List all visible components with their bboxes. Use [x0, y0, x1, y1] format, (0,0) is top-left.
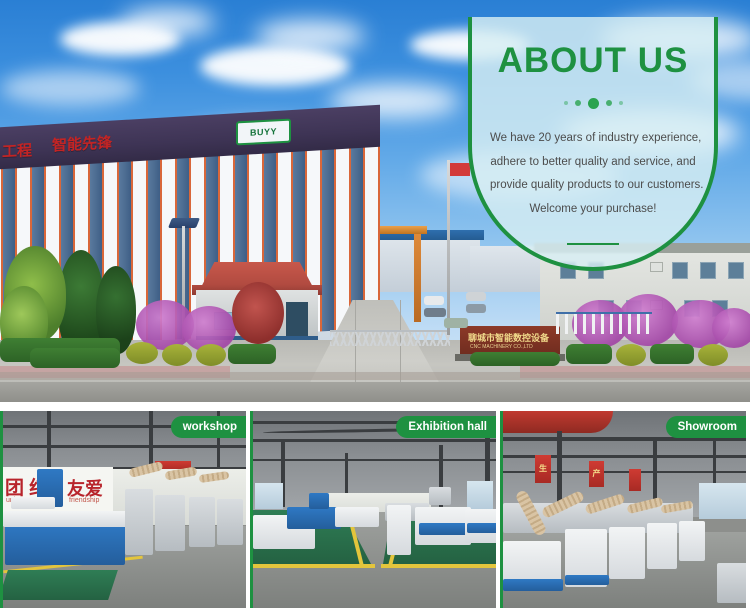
roof-truss: [253, 459, 496, 461]
machine: [419, 523, 467, 535]
roof-truss: [3, 445, 246, 448]
hero-image: 工程 智能先锋 BUYY 聊城市智能数控设备 CNC MACHINERY CO.…: [0, 0, 750, 402]
flag: [450, 163, 470, 176]
cnc-machine: [5, 523, 125, 565]
thumbnail-workshop[interactable]: 团 结 友爱 unit friendship workshop: [0, 411, 246, 608]
thumbnail-badge-showroom: Showroom: [666, 416, 746, 438]
parked-car: [466, 292, 486, 301]
yellow-shrub: [162, 344, 192, 366]
divider-dot-3: [588, 98, 599, 109]
hedge: [566, 344, 612, 364]
yellow-shrub: [616, 344, 646, 366]
machine-cabinet: [679, 521, 705, 561]
flag-pole: [447, 160, 450, 335]
thumbnail-badge-exhibition-hall: Exhibition hall: [396, 416, 496, 438]
about-underline: [567, 243, 619, 245]
parked-car: [466, 304, 486, 313]
portal-post: [414, 230, 421, 322]
company-logo-plate: BUYY: [236, 119, 291, 146]
curb: [0, 372, 750, 380]
control-cabinet: [125, 489, 153, 555]
red-hanging-banner: [629, 469, 641, 491]
about-us-paragraph: We have 20 years of industry experience,…: [490, 127, 696, 221]
machine-monitor: [429, 487, 451, 505]
side-window: [255, 483, 283, 509]
cloud: [255, 20, 365, 52]
floor-line: [381, 564, 496, 568]
building-sign-left: 工程: [2, 139, 32, 162]
divider-dot-4: [606, 100, 612, 106]
thumbnail-badge-workshop: workshop: [171, 416, 246, 438]
floor-line: [253, 564, 375, 568]
road: [0, 382, 750, 402]
cloud: [120, 8, 215, 36]
hedge: [30, 348, 120, 368]
company-logo-text: BUYY: [250, 126, 277, 137]
yellow-shrub: [126, 342, 158, 364]
hedge: [228, 344, 276, 364]
parked-car: [424, 308, 446, 317]
control-cabinet: [217, 499, 243, 545]
about-us-card: ABOUT US We have 20 years of industry ex…: [468, 17, 718, 271]
red-hanging-banner: 产: [589, 461, 604, 487]
machine: [287, 507, 341, 529]
retractable-gate: [330, 330, 450, 346]
about-us-heading: ABOUT US: [490, 43, 696, 78]
cnc-machine-arm: [11, 497, 55, 509]
control-cabinet: [155, 495, 185, 551]
red-maple-tree: [232, 282, 284, 344]
parked-car: [424, 296, 444, 305]
aisle-machine: [717, 563, 746, 603]
yellow-shrub: [698, 344, 728, 366]
about-line-3: provide quality products to our customer…: [490, 174, 696, 198]
green-floor-strip: [0, 570, 118, 600]
control-cabinet: [387, 505, 411, 555]
banner-sub-text: friendship: [69, 497, 99, 504]
white-rail-fence: [556, 312, 652, 334]
roof-truss: [253, 439, 496, 442]
stone-sign-line2: CNC MACHINERY CO.,LTD: [470, 344, 533, 350]
machine: [309, 493, 329, 509]
machine-base: [503, 579, 563, 591]
dot-divider: [490, 97, 696, 109]
control-cabinet: [189, 497, 215, 547]
stone-sign-line1: 聊城市智能数控设备: [468, 331, 549, 344]
side-window: [699, 483, 746, 519]
machine: [335, 507, 379, 527]
red-ceiling-panel: [503, 411, 613, 433]
office-window: [728, 262, 744, 279]
divider-dot-2: [575, 100, 581, 106]
divider-dot-5: [619, 101, 623, 105]
machine: [467, 523, 496, 533]
red-hanging-banner: 生: [535, 455, 551, 483]
divider-dot-1: [564, 101, 568, 105]
hedge: [650, 344, 694, 364]
about-line-2: adhere to better quality and service, an…: [490, 151, 696, 175]
cloud: [200, 46, 350, 86]
building-sign-center: 智能先锋: [52, 131, 112, 155]
cloud: [0, 70, 140, 106]
parked-car: [444, 318, 468, 328]
thumbnail-row: 团 结 友爱 unit friendship workshop: [0, 411, 750, 608]
blossom-tree: [712, 308, 750, 348]
side-window: [467, 481, 493, 509]
machine-cabinet: [647, 523, 677, 569]
machine-cabinet: [609, 527, 645, 579]
yellow-shrub: [196, 344, 226, 366]
about-line-4: Welcome your purchase!: [490, 198, 696, 222]
cnc-machine-frame: [3, 511, 127, 527]
thumbnail-showroom[interactable]: 生 产 Showroom: [500, 411, 746, 608]
hedge: [470, 352, 560, 366]
machine-base: [565, 575, 609, 585]
thumbnail-exhibition-hall[interactable]: Exhibition hall: [250, 411, 496, 608]
about-line-1: We have 20 years of industry experience,: [490, 127, 696, 151]
